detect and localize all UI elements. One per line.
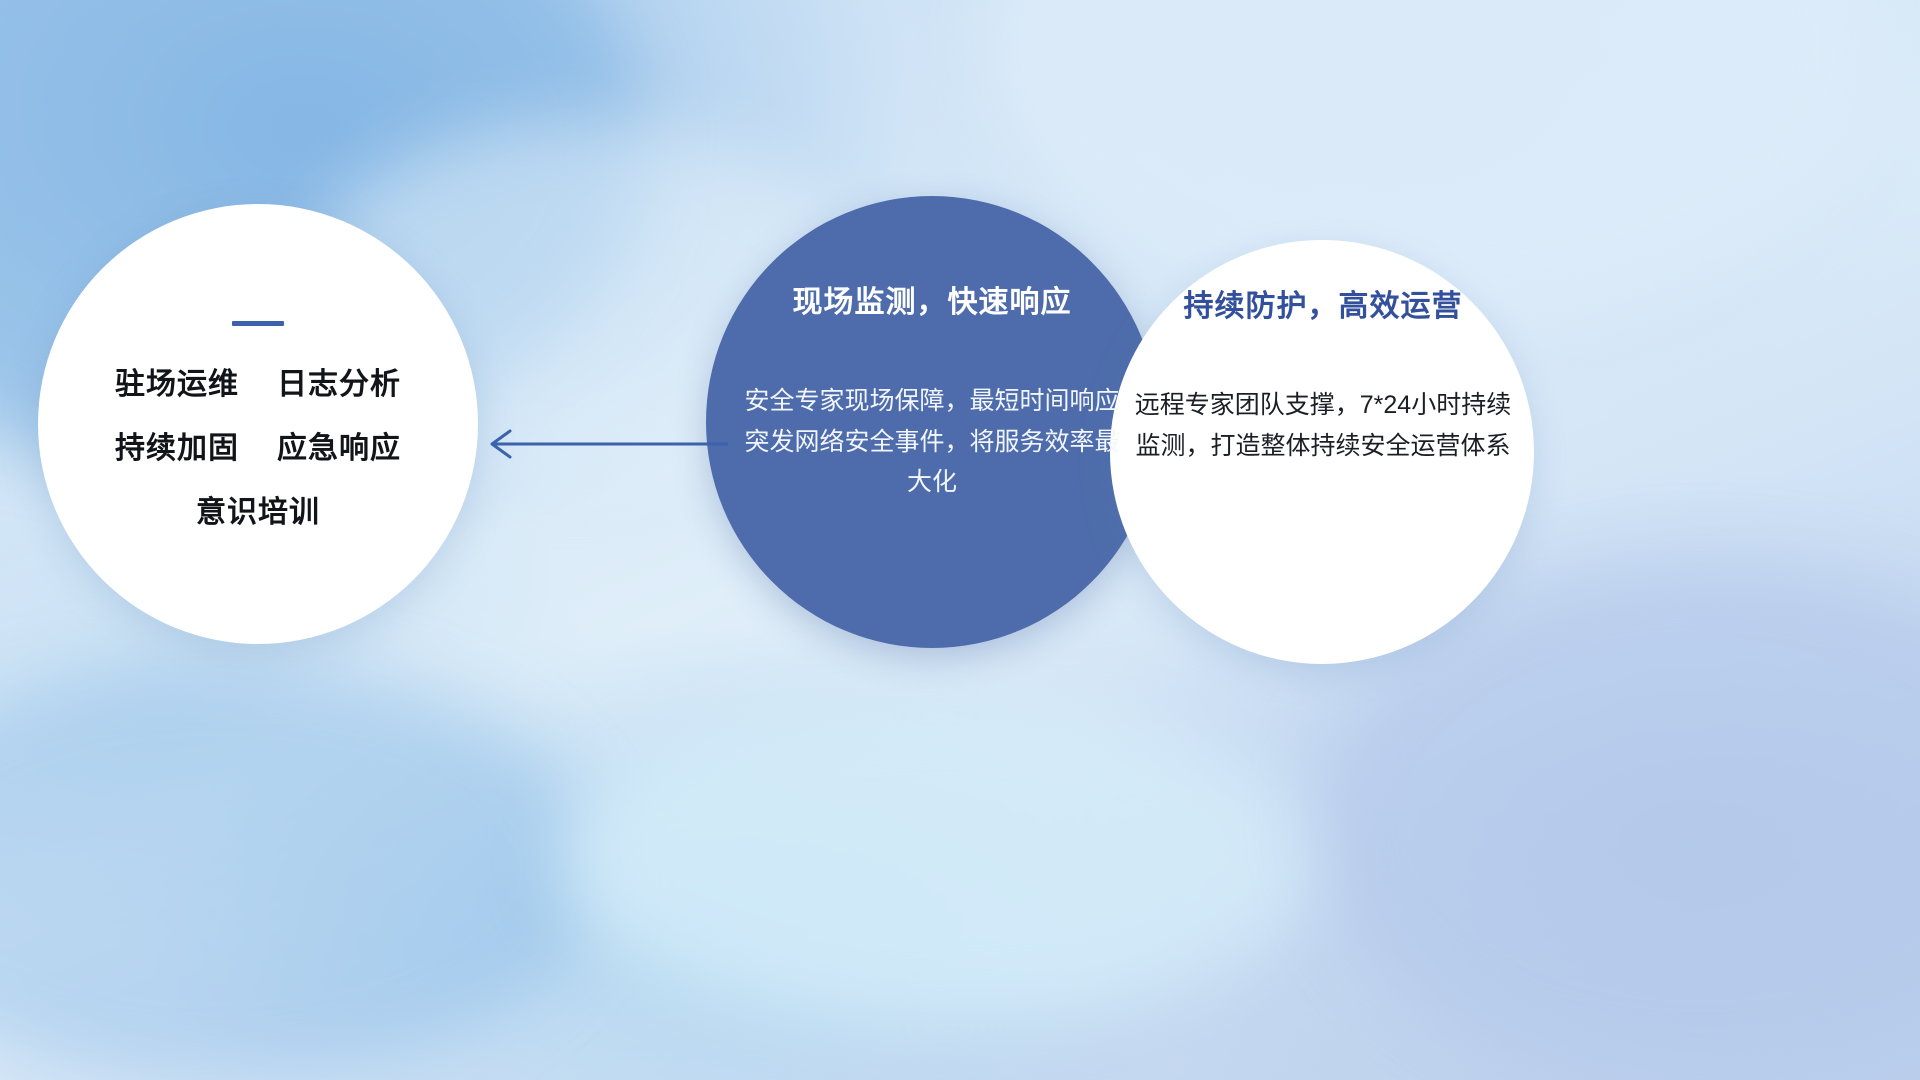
capability-circle-text: 现场监测，快速响应 安全专家现场保障，最短时间响应突发网络安全事件，将服务效率最… (742, 286, 1122, 503)
capability-circle-title: 现场监测，快速响应 (742, 286, 1122, 319)
operations-circle-text: 持续防护，高效运营 远程专家团队支撑，7*24小时持续监测，打造整体持续安全运营… (1128, 290, 1518, 466)
background-blob-bottom-center (560, 700, 1320, 1020)
operations-circle-body: 远程专家团队支撑，7*24小时持续监测，打造整体持续安全运营体系 (1128, 385, 1518, 466)
capability-circle-body: 安全专家现场保障，最短时间响应突发网络安全事件，将服务效率最大化 (742, 381, 1122, 503)
services-row-3: 意识培训 (196, 498, 320, 528)
service-tag-yishipeixun: 意识培训 (196, 498, 320, 528)
service-tag-chixujiagu: 持续加固 (115, 434, 239, 464)
services-circle[interactable]: 驻场运维 日志分析 持续加固 应急响应 意识培训 (38, 204, 478, 644)
service-tag-rizhifenxi: 日志分析 (277, 370, 401, 400)
flow-arrow-left-icon (480, 420, 730, 468)
service-tag-zhuchangyunwei: 驻场运维 (115, 370, 239, 400)
services-list: 驻场运维 日志分析 持续加固 应急响应 意识培训 (115, 370, 401, 528)
slide-canvas: 驻场运维 日志分析 持续加固 应急响应 意识培训 现场监测，快速响应 安全专家现… (0, 0, 1920, 1080)
services-row-2: 持续加固 应急响应 (115, 434, 401, 464)
services-row-1: 驻场运维 日志分析 (115, 370, 401, 400)
background-blob-bottom-left (0, 660, 600, 1080)
service-tag-yingjixiangying: 应急响应 (277, 434, 401, 464)
divider-dash (232, 321, 284, 326)
operations-circle-title: 持续防护，高效运营 (1128, 290, 1518, 323)
